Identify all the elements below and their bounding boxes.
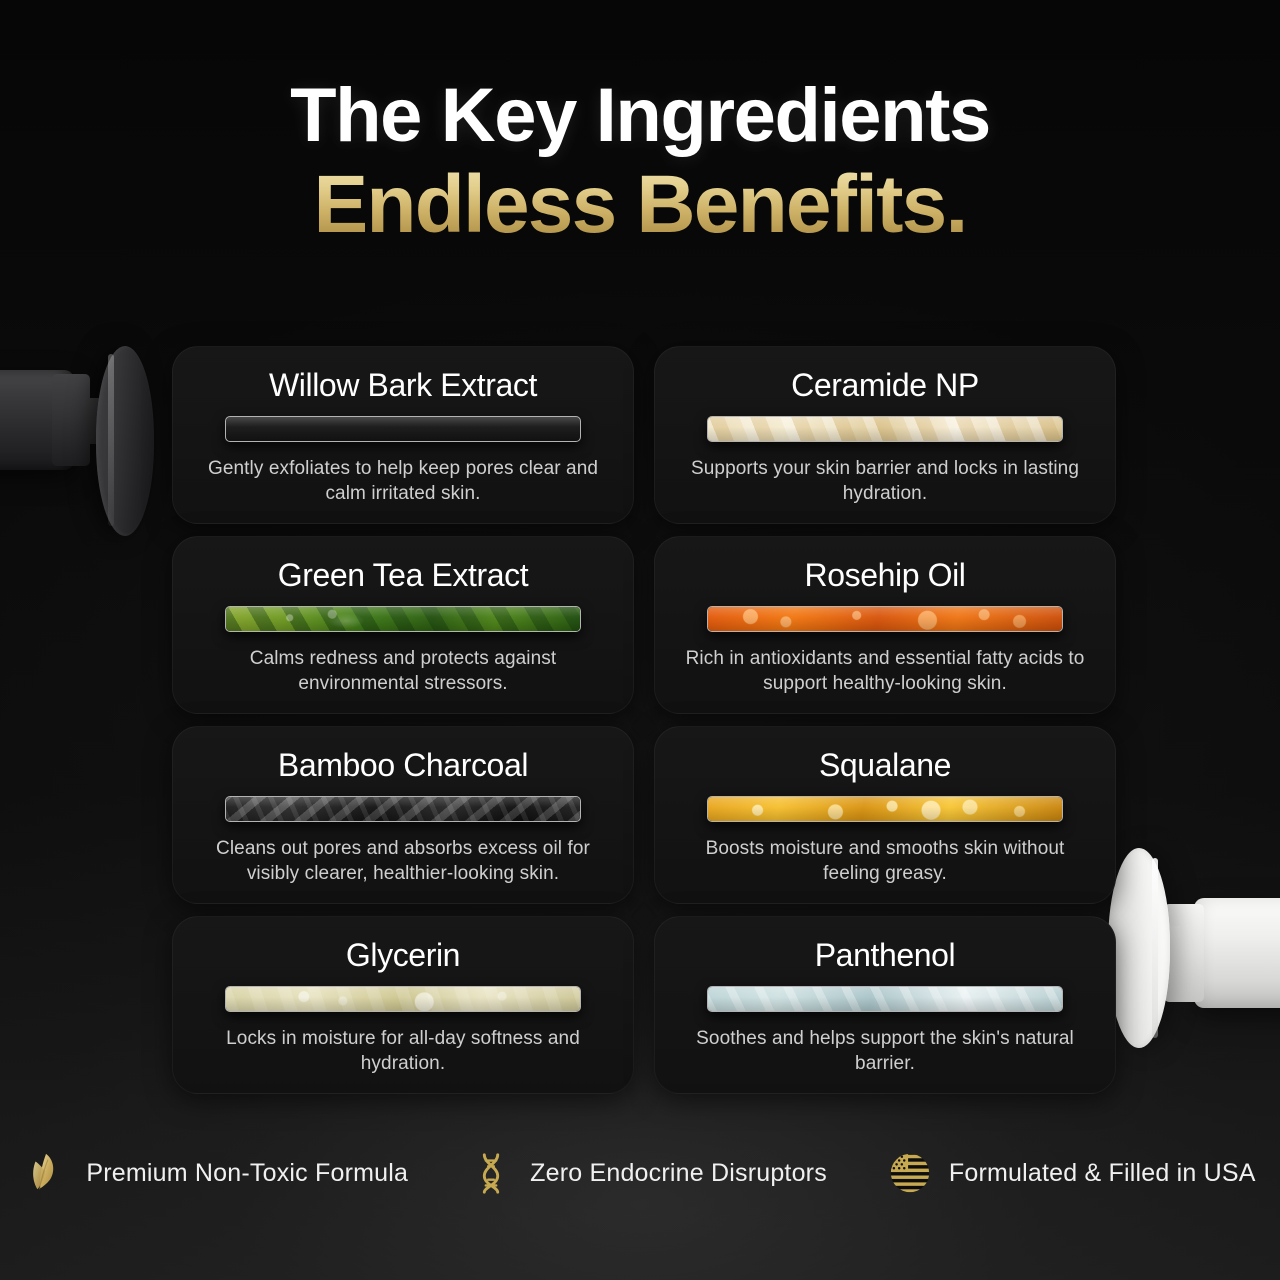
badge-label: Zero Endocrine Disruptors xyxy=(530,1159,827,1188)
ingredient-swatch-ceramide-np xyxy=(707,416,1063,442)
ingredient-name: Rosehip Oil xyxy=(804,559,965,593)
pump-bottle-body xyxy=(0,370,74,470)
ingredient-name: Panthenol xyxy=(815,939,956,973)
ingredient-card-grid: Willow Bark Extract Gently exfoliates to… xyxy=(172,346,1116,1094)
badge-label: Premium Non-Toxic Formula xyxy=(86,1159,408,1188)
badge-formulated-filled-in-usa: Formulated & Filled in USA xyxy=(887,1150,1256,1196)
ingredient-swatch-glycerin xyxy=(225,986,581,1012)
headline-line-1: The Key Ingredients xyxy=(0,78,1280,154)
ingredient-description: Soothes and helps support the skin's nat… xyxy=(685,1026,1085,1076)
swatch-gloss xyxy=(708,987,1062,1011)
ingredient-card: Bamboo Charcoal Cleans out pores and abs… xyxy=(172,726,634,904)
badge-label: Formulated & Filled in USA xyxy=(949,1159,1256,1188)
pump-bottle-collar xyxy=(1164,904,1204,1002)
ingredient-name: Bamboo Charcoal xyxy=(278,749,528,783)
ingredient-swatch-willow-bark xyxy=(225,416,581,442)
ingredient-name: Glycerin xyxy=(346,939,460,973)
ingredients-infographic: The Key Ingredients Endless Benefits. Wi… xyxy=(0,0,1280,1280)
ingredient-description: Rich in antioxidants and essential fatty… xyxy=(685,646,1085,696)
white-pump-bottle-decoration xyxy=(1098,856,1280,1076)
swatch-gloss xyxy=(226,607,580,631)
ingredient-description: Cleans out pores and absorbs excess oil … xyxy=(203,836,603,886)
ingredient-card: Squalane Boosts moisture and smooths ski… xyxy=(654,726,1116,904)
ingredient-description: Gently exfoliates to help keep pores cle… xyxy=(203,456,603,506)
pump-bottle-neck xyxy=(82,398,122,444)
swatch-gloss xyxy=(708,607,1062,631)
ingredient-card: Rosehip Oil Rich in antioxidants and ess… xyxy=(654,536,1116,714)
ingredient-name: Willow Bark Extract xyxy=(269,369,537,403)
ingredient-description: Calms redness and protects against envir… xyxy=(203,646,603,696)
leaf-icon xyxy=(24,1150,70,1196)
ingredient-swatch-rosehip-oil xyxy=(707,606,1063,632)
ingredient-card: Green Tea Extract Calms redness and prot… xyxy=(172,536,634,714)
ingredient-description: Boosts moisture and smooths skin without… xyxy=(685,836,1085,886)
badge-zero-endocrine-disruptors: Zero Endocrine Disruptors xyxy=(468,1150,827,1196)
swatch-gloss xyxy=(226,797,580,821)
ingredient-card: Ceramide NP Supports your skin barrier a… xyxy=(654,346,1116,524)
page-title: The Key Ingredients Endless Benefits. xyxy=(0,78,1280,246)
ingredient-name: Squalane xyxy=(819,749,951,783)
swatch-gloss xyxy=(708,417,1062,441)
usa-flag-circle-icon xyxy=(887,1150,933,1196)
ingredient-description: Locks in moisture for all-day softness a… xyxy=(203,1026,603,1076)
ingredient-swatch-panthenol xyxy=(707,986,1063,1012)
ingredient-card: Glycerin Locks in moisture for all-day s… xyxy=(172,916,634,1094)
pump-bottle-body xyxy=(1194,898,1280,1008)
dna-helix-icon xyxy=(468,1150,514,1196)
ingredient-swatch-bamboo-charcoal xyxy=(225,796,581,822)
swatch-gloss xyxy=(708,797,1062,821)
trust-badges: Premium Non-Toxic Formula Zero Endocrine… xyxy=(0,1150,1280,1196)
swatch-gloss xyxy=(226,417,580,441)
pump-bottle-head xyxy=(1108,848,1170,1048)
ingredient-name: Green Tea Extract xyxy=(278,559,529,593)
pump-bottle-collar xyxy=(52,374,90,466)
ingredient-name: Ceramide NP xyxy=(791,369,979,403)
headline-line-2: Endless Benefits. xyxy=(0,164,1280,246)
ingredient-description: Supports your skin barrier and locks in … xyxy=(685,456,1085,506)
ingredient-card: Panthenol Soothes and helps support the … xyxy=(654,916,1116,1094)
ingredient-card: Willow Bark Extract Gently exfoliates to… xyxy=(172,346,634,524)
pump-bottle-head xyxy=(96,346,154,536)
black-pump-bottle-decoration xyxy=(0,352,168,562)
swatch-gloss xyxy=(226,987,580,1011)
badge-premium-non-toxic-formula: Premium Non-Toxic Formula xyxy=(24,1150,408,1196)
ingredient-swatch-green-tea xyxy=(225,606,581,632)
pump-bottle-neck xyxy=(1140,926,1180,976)
ingredient-swatch-squalane xyxy=(707,796,1063,822)
